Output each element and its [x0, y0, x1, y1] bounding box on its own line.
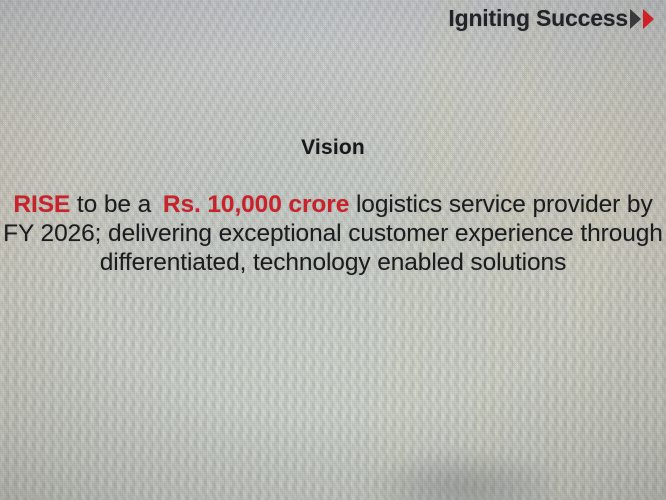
brand-header: Igniting Success	[448, 5, 654, 32]
slide-title: Vision	[0, 136, 666, 160]
projected-slide-photo: Igniting Success Vision RISE to be a Rs.…	[0, 0, 666, 500]
triangle-right-dark-icon	[630, 9, 641, 29]
triangle-right-red-icon	[643, 9, 654, 29]
slide-content: Igniting Success Vision RISE to be a Rs.…	[0, 0, 666, 500]
vision-statement: RISE to be a Rs. 10,000 crore logistics …	[0, 190, 666, 277]
vision-accent-amount: Rs. 10,000 crore	[163, 191, 349, 218]
vision-accent-rise: RISE	[13, 191, 70, 218]
brand-tagline: Igniting Success	[448, 5, 628, 32]
vision-text-tobe: to be a	[77, 191, 151, 218]
